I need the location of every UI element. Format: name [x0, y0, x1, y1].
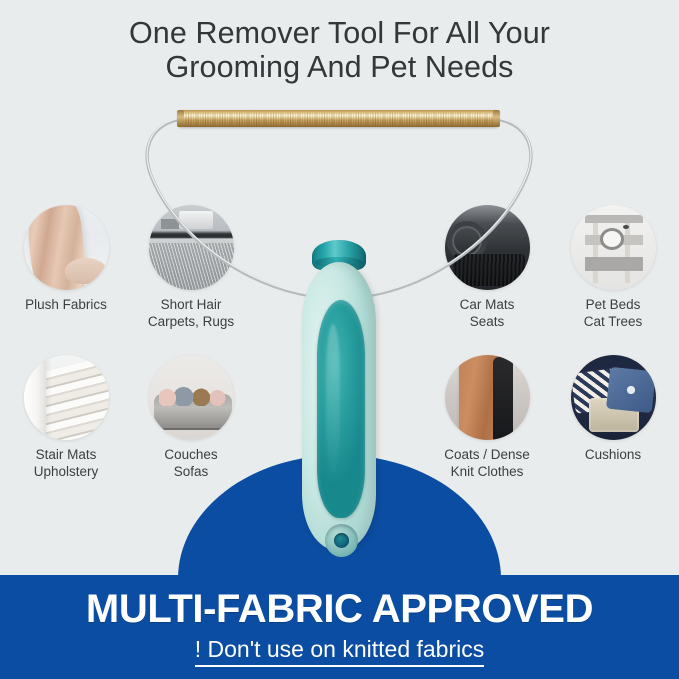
feature-label: Couches Sofas: [126, 447, 256, 480]
blade-end-cap-left: [177, 110, 184, 127]
cat-tree-art: [571, 205, 656, 290]
car-mats-seats-thumb: [445, 205, 530, 290]
handle-grip-inset: [317, 300, 365, 518]
cushions-thumb: [571, 355, 656, 440]
pet-beds-cat-trees-thumb: [571, 205, 656, 290]
handle-body: [302, 262, 376, 550]
plush-fabric-art: [24, 205, 109, 290]
front-cushion-art: [589, 398, 639, 432]
feature-label: Coats / Dense Knit Clothes: [422, 447, 552, 480]
coats-dense-knit-clothes-thumb: [445, 355, 530, 440]
banner-title: MULTI-FABRIC APPROVED: [0, 587, 679, 631]
feature-item-coats-knit-clothes: Coats / Dense Knit Clothes: [422, 355, 552, 480]
banner-warning: ! Don't use on knitted fabrics: [0, 635, 679, 667]
blade-end-cap-right: [493, 110, 500, 127]
feature-label: Cushions: [548, 447, 678, 464]
feature-label: Pet Beds Cat Trees: [548, 297, 678, 330]
blade-ribbing: [178, 113, 499, 125]
coat-art: [445, 355, 530, 440]
feature-item-cushions: Cushions: [548, 355, 678, 464]
staircase-art: [24, 355, 109, 440]
feature-label: Plush Fabrics: [1, 297, 131, 314]
feature-item-car-mats-seats: Car Mats Seats: [422, 205, 552, 330]
approval-banner: MULTI-FABRIC APPROVED ! Don't use on kni…: [0, 575, 679, 679]
banner-warning-text: ! Don't use on knitted fabrics: [195, 635, 485, 667]
short-hair-carpets-rugs-thumb: [149, 205, 234, 290]
feature-item-pet-beds-cat-trees: Pet Beds Cat Trees: [548, 205, 678, 330]
feature-label: Stair Mats Upholstery: [1, 447, 131, 480]
product-handle: [299, 240, 379, 550]
feature-label: Car Mats Seats: [422, 297, 552, 330]
hang-hole-icon: [325, 524, 358, 557]
stair-mats-upholstery-thumb: [24, 355, 109, 440]
carpet-rug-art: [149, 205, 234, 290]
feature-item-couches-sofas: Couches Sofas: [126, 355, 256, 480]
gold-blade-bar: [178, 110, 499, 127]
feature-item-short-hair-carpets: Short Hair Carpets, Rugs: [126, 205, 256, 330]
sofa-art: [149, 355, 234, 440]
plush-fabrics-thumb: [24, 205, 109, 290]
feature-item-plush-fabrics: Plush Fabrics: [1, 205, 131, 314]
car-interior-art: [445, 205, 530, 290]
page-title: One Remover Tool For All Your Grooming A…: [0, 16, 679, 84]
feature-item-stair-mats: Stair Mats Upholstery: [1, 355, 131, 480]
infographic-canvas: One Remover Tool For All Your Grooming A…: [0, 0, 679, 679]
cushions-art: [571, 355, 656, 440]
feature-label: Short Hair Carpets, Rugs: [126, 297, 256, 330]
couches-sofas-thumb: [149, 355, 234, 440]
